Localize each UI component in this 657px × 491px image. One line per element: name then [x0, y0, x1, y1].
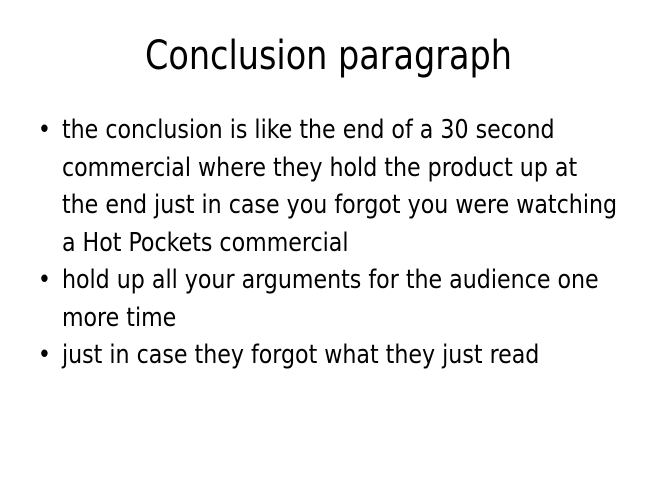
list-item: • the conclusion is like the end of a 30…: [33, 112, 618, 262]
bullet-point-icon: •: [38, 112, 52, 150]
bullet-point-icon: •: [38, 262, 52, 300]
presentation-slide: Conclusion paragraph • the conclusion is…: [0, 0, 657, 491]
list-item-text: hold up all your arguments for the audie…: [62, 262, 618, 337]
page-title: Conclusion paragraph: [23, 33, 634, 79]
list-item-text: the conclusion is like the end of a 30 s…: [62, 112, 618, 262]
list-item: • hold up all your arguments for the aud…: [33, 262, 618, 337]
bullet-point-icon: •: [38, 337, 52, 375]
bullet-list: • the conclusion is like the end of a 30…: [33, 112, 639, 375]
list-item-text: just in case they forgot what they just …: [62, 337, 618, 375]
list-item: • just in case they forgot what they jus…: [33, 337, 618, 375]
